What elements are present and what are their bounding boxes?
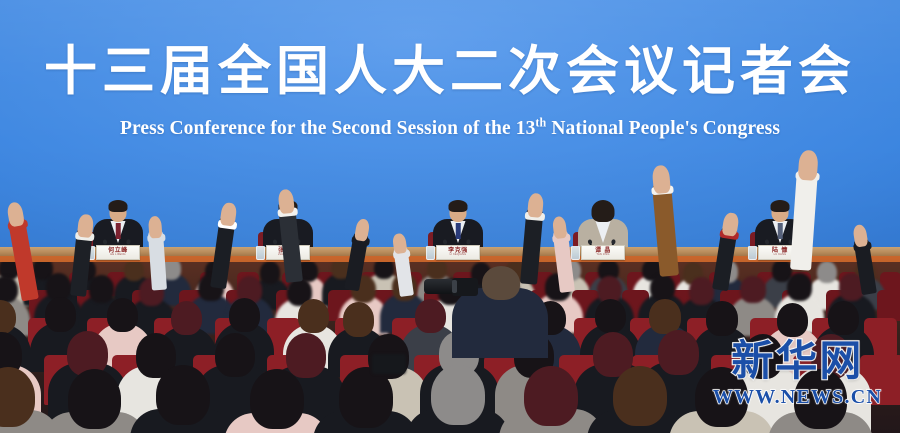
- banner-title-english-after: National People's Congress: [546, 118, 780, 139]
- audience-member-head: [787, 273, 812, 301]
- audience-member-head: [68, 369, 122, 429]
- audience-member-head: [794, 369, 848, 429]
- placard-name-en: HE LIFENG: [110, 254, 126, 257]
- placard-name-en: TAN JING: [596, 254, 609, 257]
- name-placard-3: 李克强LI KEQIANG: [436, 245, 480, 260]
- audience-member-head: [524, 366, 578, 426]
- audience-member-head: [658, 330, 698, 375]
- camera-lens: [424, 279, 454, 294]
- name-placard-1: 何立峰HE LIFENG: [96, 245, 140, 260]
- audience-member-head: [286, 333, 326, 378]
- panelist-necktie: [116, 223, 121, 239]
- audience-member-head: [743, 334, 783, 379]
- audience-member-head: [817, 262, 837, 283]
- audience-member-head: [156, 365, 210, 425]
- audience-member-head: [740, 276, 765, 304]
- audience-member-head: [229, 298, 260, 332]
- hand: [527, 192, 545, 218]
- audience-member-head: [415, 299, 446, 333]
- water-glass: [571, 246, 580, 260]
- audience-member-head: [689, 277, 714, 305]
- audience-member-head: [171, 301, 202, 335]
- audience-area: [0, 262, 900, 433]
- audience-member-head: [828, 301, 859, 335]
- panelist-hair: [109, 200, 128, 212]
- audience-member-head: [427, 262, 447, 280]
- panelist-hair: [449, 200, 468, 212]
- water-glass: [748, 246, 757, 260]
- audience-member-head: [650, 274, 675, 302]
- audience-member-head: [431, 365, 485, 425]
- audience-member-head: [107, 298, 138, 332]
- audience-member-head: [706, 301, 737, 335]
- audience-member-head: [215, 333, 255, 378]
- raised-hand-3: [148, 228, 167, 291]
- camera-body: [372, 354, 406, 374]
- audience-member-head: [250, 369, 304, 429]
- audience-member-head: [595, 299, 626, 333]
- banner-title-english-before: Press Conference for the Second Session …: [120, 118, 535, 139]
- hand: [147, 216, 162, 239]
- audience-member-head: [613, 366, 667, 426]
- audience-member-head: [124, 262, 144, 281]
- banner-title-english: Press Conference for the Second Session …: [0, 118, 900, 140]
- audience-member-head: [260, 262, 280, 284]
- audience-member-head: [777, 303, 808, 337]
- audience-seat: [877, 290, 900, 320]
- banner-title-ordinal-suffix: th: [535, 116, 546, 130]
- panelist-necktie: [456, 223, 461, 239]
- water-glass: [256, 246, 265, 260]
- audience-member-head: [695, 367, 749, 427]
- panelist-hair: [771, 200, 790, 212]
- placard-name-en: LU KANG: [774, 254, 787, 257]
- audience-member-head: [89, 275, 114, 303]
- audience-member-head: [339, 367, 393, 427]
- panelist-hair: [592, 200, 615, 222]
- audience-member-head: [0, 276, 18, 304]
- audience-member-head: [45, 297, 76, 331]
- audience-member-head: [649, 299, 680, 333]
- press-conference-photo: 十三届全国人大二次会议记者会 Press Conference for the …: [0, 0, 900, 433]
- name-placard-4: 谭 晶TAN JING: [581, 245, 625, 260]
- photographer-head: [482, 266, 520, 300]
- placard-name-en: LI KEQIANG: [450, 254, 467, 257]
- hand: [797, 149, 818, 181]
- water-glass: [426, 246, 435, 260]
- audience-member-head: [343, 302, 374, 336]
- banner-title-chinese: 十三届全国人大二次会议记者会: [0, 40, 900, 102]
- hand: [77, 213, 94, 238]
- panelist-necktie: [778, 223, 783, 239]
- audience-member-head: [298, 299, 329, 333]
